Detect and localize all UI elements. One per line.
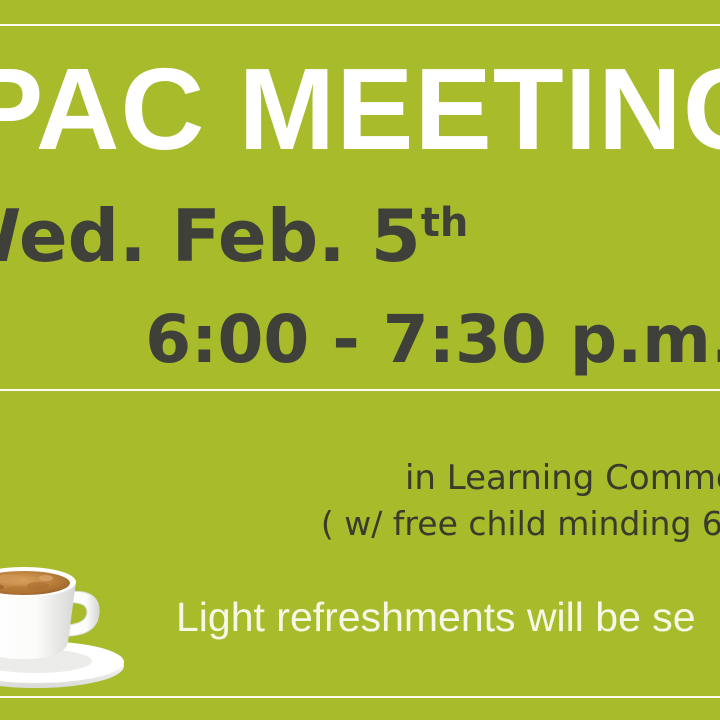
refreshments-text: Light refreshments will be se [176,586,696,648]
location-block: in Learning Commons ( w/ free child mind… [0,455,720,555]
refreshments-line: Light refreshments will be se [0,586,720,652]
event-date-ordinal: th [421,200,469,246]
page-title: PAC MEETING [0,40,720,178]
divider-rule-top [0,24,720,26]
event-date-main: Wed. Feb. 5 [0,194,421,278]
date-line: Wed. Feb. 5th [0,186,720,296]
divider-rule-bottom [0,696,720,698]
time-line: 6:00 - 7:30 p.m. [0,296,720,388]
poster-canvas: PAC MEETING Wed. Feb. 5th 6:00 - 7:30 p.… [0,0,720,720]
title-band: PAC MEETING [0,40,720,180]
event-time: 6:00 - 7:30 p.m. [145,296,720,384]
event-venue: in Learning Commons [56,455,720,501]
event-childcare-note: ( w/ free child minding 6:30 [56,501,720,547]
event-date: Wed. Feb. 5th [0,186,468,286]
divider-rule-middle [0,389,720,391]
